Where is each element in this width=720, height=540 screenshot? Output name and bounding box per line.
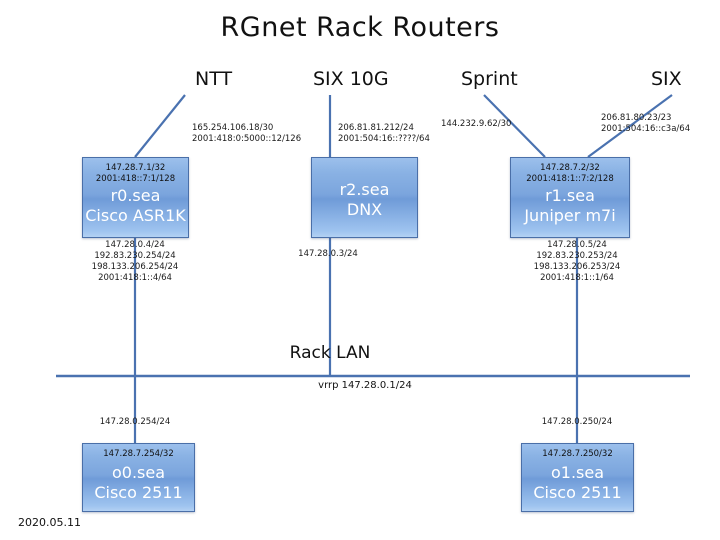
uplink-label-ntt: 165.254.106.18/30 2001:418:0:5000::12/12… (192, 123, 301, 145)
node-r2-sea[interactable]: r2.sea DNX (311, 157, 418, 238)
node-o0-sea[interactable]: 147.28.7.254/32 o0.sea Cisco 2511 (82, 443, 195, 512)
node-r0-loopback-v6: 2001:418::7:1/128 (83, 174, 188, 185)
iface-label-r0: 147.28.0.4/24 192.83.230.254/24 198.133.… (60, 240, 210, 284)
iface-label-r1: 147.28.0.5/24 192.83.230.253/24 198.133.… (502, 240, 652, 284)
node-r0-name: r0.sea (83, 186, 188, 206)
iface-label-r1-line2: 192.83.230.253/24 (502, 251, 652, 262)
node-r0-model: Cisco ASR1K (83, 206, 188, 226)
rack-lan-vrrp: vrrp 147.28.0.1/24 (318, 380, 412, 391)
iface-label-o0-line1: 147.28.0.254/24 (75, 417, 195, 428)
node-o1-sea[interactable]: 147.28.7.250/32 o1.sea Cisco 2511 (521, 443, 634, 512)
iface-label-r0-line1: 147.28.0.4/24 (60, 240, 210, 251)
uplink-label-six10g: 206.81.81.212/24 2001:504:16::????/64 (338, 123, 430, 145)
uplink-label-ntt-line2: 2001:418:0:5000::12/126 (192, 134, 301, 145)
iface-label-r0-line2: 192.83.230.254/24 (60, 251, 210, 262)
node-o1-loopback: 147.28.7.250/32 (522, 449, 633, 460)
iface-label-r2-line1: 147.28.0.3/24 (268, 249, 388, 260)
iface-label-r1-line1: 147.28.0.5/24 (502, 240, 652, 251)
date-stamp: 2020.05.11 (18, 516, 81, 529)
node-o1-name: o1.sea (522, 463, 633, 483)
uplink-label-six-line2: 2001:504:16::c3a/64 (601, 124, 690, 135)
node-r1-name: r1.sea (511, 186, 629, 206)
upstream-label-six: SIX (651, 68, 682, 90)
uplink-label-sprint: 144.232.9.62/30 (441, 119, 511, 130)
iface-label-r2: 147.28.0.3/24 (268, 249, 388, 260)
node-o1-model: Cisco 2511 (522, 483, 633, 503)
node-o0-name: o0.sea (83, 463, 194, 483)
upstream-label-ntt: NTT (195, 68, 232, 90)
node-r1-sea[interactable]: 147.28.7.2/32 2001:418:1::7:2/128 r1.sea… (510, 157, 630, 238)
iface-label-r1-line3: 198.133.206.253/24 (502, 262, 652, 273)
iface-label-o1-line1: 147.28.0.250/24 (517, 417, 637, 428)
node-r2-name: r2.sea (312, 180, 417, 200)
node-o0-loopback: 147.28.7.254/32 (83, 449, 194, 460)
iface-label-o0: 147.28.0.254/24 (75, 417, 195, 428)
iface-label-r0-line4: 2001:418:1::4/64 (60, 273, 210, 284)
node-r1-model: Juniper m7i (511, 206, 629, 226)
upstream-label-six10g: SIX 10G (313, 68, 389, 90)
node-r2-model: DNX (312, 200, 417, 220)
rack-lan-label: Rack LAN (290, 343, 371, 363)
iface-label-o1: 147.28.0.250/24 (517, 417, 637, 428)
upstream-label-sprint: Sprint (461, 68, 518, 90)
iface-label-r1-line4: 2001:418:1::1/64 (502, 273, 652, 284)
node-r1-loopback-v6: 2001:418:1::7:2/128 (511, 174, 629, 185)
node-o0-model: Cisco 2511 (83, 483, 194, 503)
node-r0-sea[interactable]: 147.28.7.1/32 2001:418::7:1/128 r0.sea C… (82, 157, 189, 238)
node-r0-loopback-v4: 147.28.7.1/32 (83, 163, 188, 174)
uplink-label-ntt-line1: 165.254.106.18/30 (192, 123, 301, 134)
iface-label-r0-line3: 198.133.206.254/24 (60, 262, 210, 273)
link-ntt-r0 (135, 95, 185, 157)
uplink-label-sprint-line1: 144.232.9.62/30 (441, 119, 511, 130)
uplink-label-six10g-line1: 206.81.81.212/24 (338, 123, 430, 134)
uplink-label-six-line1: 206.81.80.23/23 (601, 113, 690, 124)
page-title: RGnet Rack Routers (0, 12, 720, 43)
node-r1-loopback-v4: 147.28.7.2/32 (511, 163, 629, 174)
diagram-canvas: RGnet Rack Routers NTT SIX 10G Sprint SI… (0, 0, 720, 540)
uplink-label-six10g-line2: 2001:504:16::????/64 (338, 134, 430, 145)
uplink-label-six: 206.81.80.23/23 2001:504:16::c3a/64 (601, 113, 690, 135)
